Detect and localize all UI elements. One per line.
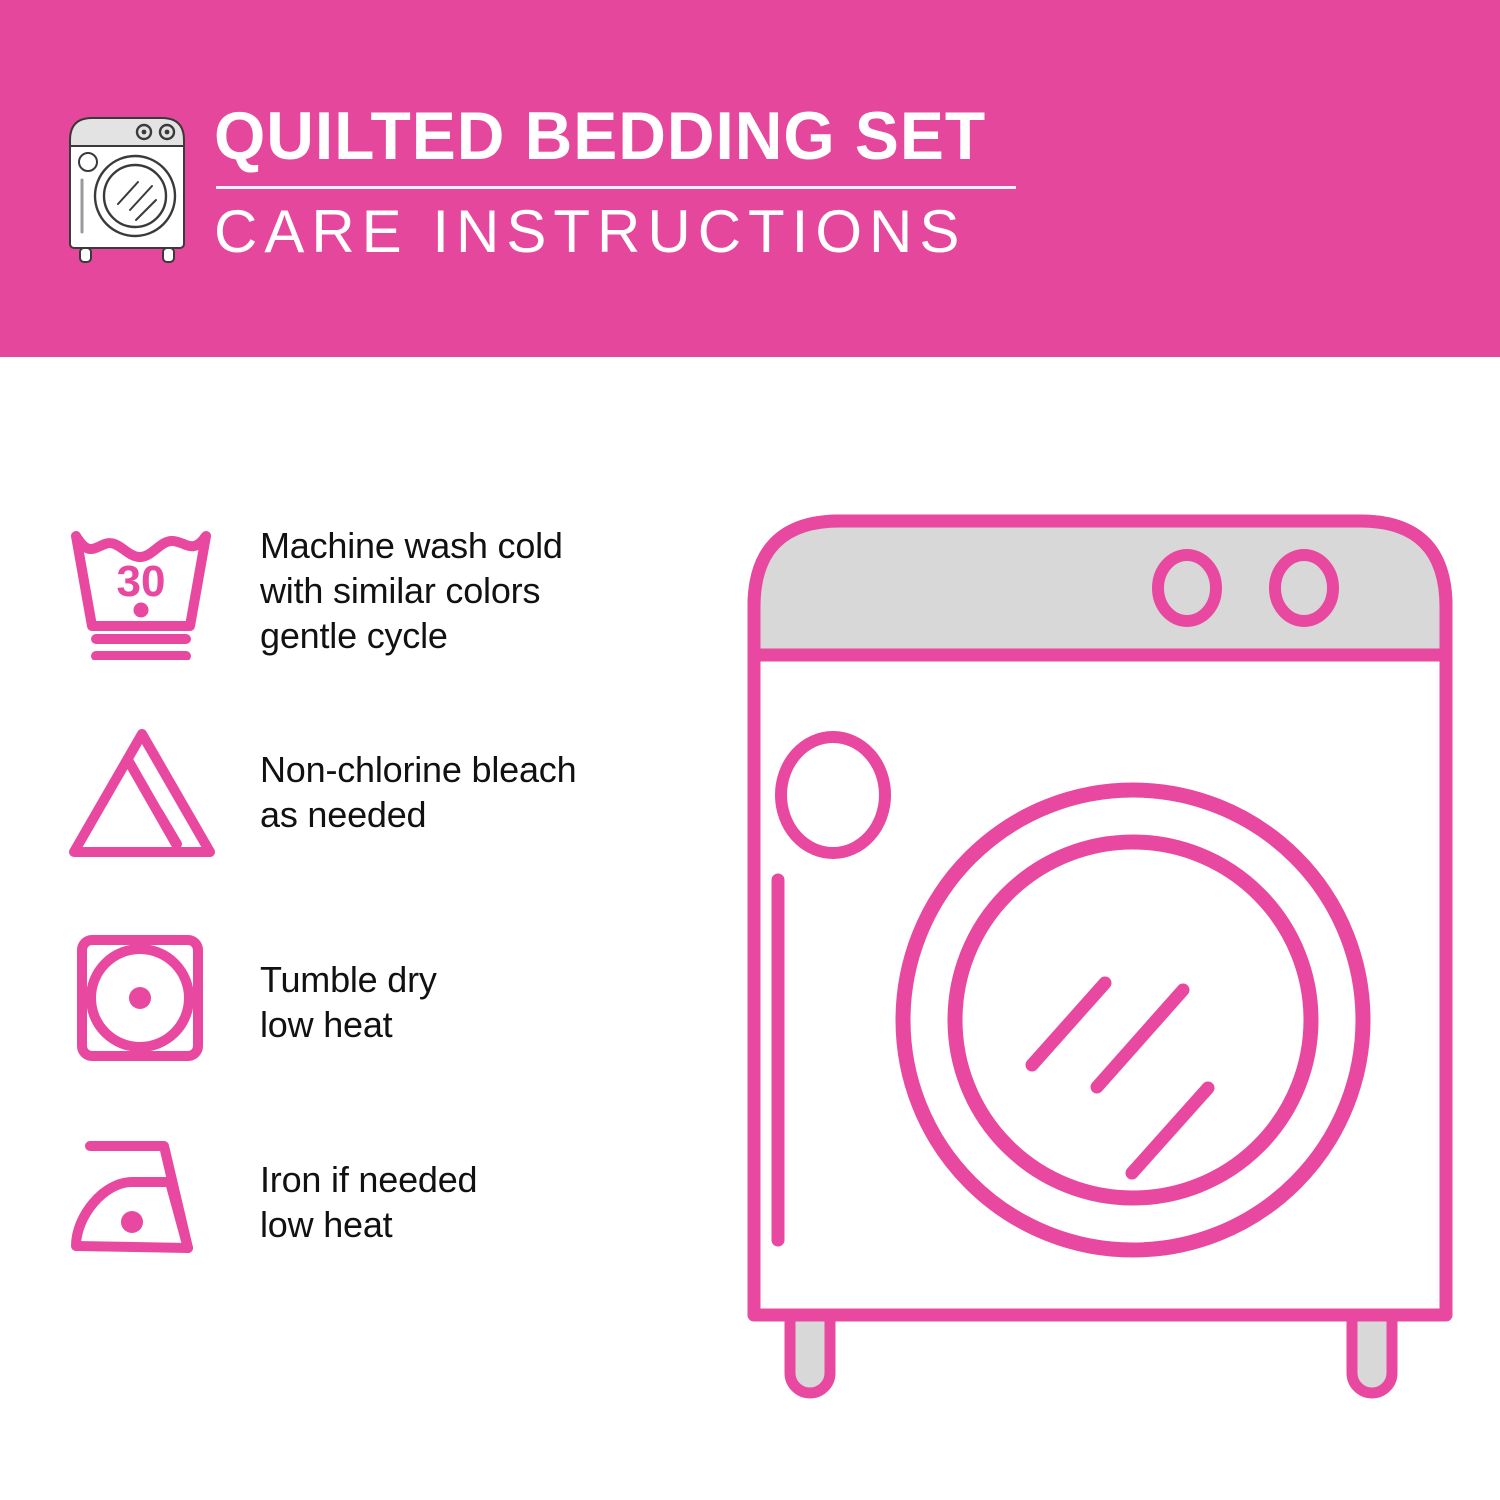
washer-legs (790, 1315, 1392, 1393)
wash-temperature-value: 30 (117, 557, 166, 606)
page-title: QUILTED BEDDING SET (214, 98, 992, 174)
instruction-line: gentle cycle (260, 613, 563, 658)
header-text-block: QUILTED BEDDING SET CARE INSTRUCTIONS (214, 98, 1016, 265)
instruction-list: 30 Machine wash cold with similar colors… (60, 505, 740, 1283)
washer-knob-1 (1158, 555, 1216, 621)
instruction-line: Machine wash cold (260, 523, 563, 568)
washing-machine-icon (62, 106, 192, 266)
non-chlorine-bleach-triangle-icon (60, 711, 260, 871)
instruction-text: Non-chlorine bleach as needed (260, 711, 576, 837)
header-content: QUILTED BEDDING SET CARE INSTRUCTIONS (62, 98, 1016, 266)
instruction-line: low heat (260, 1202, 477, 1247)
washing-machine-illustration (740, 495, 1460, 1425)
instruction-line: Iron if needed (260, 1157, 477, 1202)
iron-low-heat-icon (60, 1123, 260, 1283)
instruction-line: Non-chlorine bleach (260, 747, 576, 792)
list-item: Iron if needed low heat (60, 1123, 740, 1283)
instruction-text: Iron if needed low heat (260, 1123, 477, 1247)
title-divider (216, 186, 1016, 189)
wash-tub-30-icon: 30 (60, 505, 260, 665)
list-item: Tumble dry low heat (60, 917, 740, 1077)
care-instructions-page: QUILTED BEDDING SET CARE INSTRUCTIONS (0, 0, 1500, 1500)
instruction-line: low heat (260, 1002, 437, 1047)
list-item: 30 Machine wash cold with similar colors… (60, 505, 740, 665)
instruction-line: with similar colors (260, 568, 563, 613)
instruction-line: as needed (260, 792, 576, 837)
page-subtitle: CARE INSTRUCTIONS (214, 199, 1016, 265)
instruction-text: Machine wash cold with similar colors ge… (260, 505, 563, 658)
instruction-text: Tumble dry low heat (260, 917, 437, 1047)
instruction-line: Tumble dry (260, 957, 437, 1002)
washer-knob-2 (1275, 555, 1333, 621)
list-item: Non-chlorine bleach as needed (60, 711, 740, 871)
header-banner: QUILTED BEDDING SET CARE INSTRUCTIONS (0, 0, 1500, 357)
tumble-dry-low-icon (60, 917, 260, 1077)
